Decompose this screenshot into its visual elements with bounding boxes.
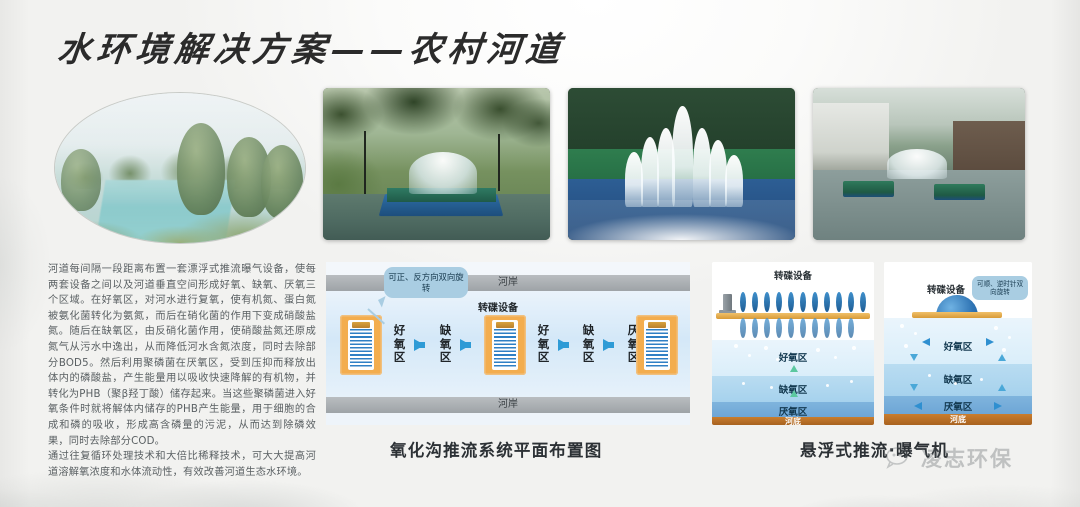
xs1-blade [800,292,806,312]
xs1-title: 转碟设备 [712,268,874,282]
body-copy: 河道每间隔一段距离布置一套漂浮式推流曝气设备，使每两套设备之间以及河道垂直空间形… [48,262,316,480]
page-title: 水环境解决方案——农村河道 [55,22,567,71]
section-disc-aerator: 转碟设备 好氧区 缺氧区 厌氧区 河底 [712,262,874,425]
plan-equipment-cap [352,322,370,328]
xs1-bubble [816,348,820,352]
xs1-blade-lower [788,318,794,338]
xs1-blade-lower [812,318,818,338]
plan-flow-arrow [603,339,614,351]
xs1-blade-lower [848,318,854,338]
plan-equipment-2 [484,315,526,375]
xs1-bubble [748,354,751,357]
xs1-up-arrow [790,365,798,372]
xs2-bubble [954,382,957,385]
xs1-blade [812,292,818,312]
plan-zone-anoxic-2: 缺氧区 [581,324,596,365]
xs2-label-riverbed: 河底 [884,414,1032,425]
plan-zone-anoxic-1: 缺氧区 [438,324,453,365]
xs1-blade-lower [836,318,842,338]
xs1-blade-lower [764,318,770,338]
plan-flow-arrow [460,339,471,351]
xs2-bubble [900,324,904,328]
wechat-icon [886,447,914,469]
plan-equipment-rotor [348,320,374,370]
xs1-blade-lower [824,318,830,338]
photo-2-jet [625,152,643,207]
watermark: 凌志环保 [886,443,1013,473]
xs1-up-arrow [790,390,798,397]
xs1-bubble [834,356,837,359]
plan-rotation-callout: 可正、反方向双向旋转 [384,267,468,298]
xs1-blade [776,292,782,312]
photo-floating-aerator-canal [323,88,550,240]
xs1-bubble [850,380,853,383]
xs2-bottom-arrow-left [914,402,922,410]
xs2-down-arrow [910,384,918,391]
photo-3-white-building [813,103,889,173]
xs1-bubble [776,358,779,361]
photo-1-pole [498,134,500,192]
xs2-flow-arrow-right [986,338,994,346]
xs2-bubble [1008,336,1011,339]
plan-zone-aerobic-1: 好氧区 [392,324,407,365]
body-paragraph-2: 通过往复循环处理技术和大倍比稀释技术，可大大提高河道溶解氧浓度和水体流动性，有效… [48,449,316,480]
xs1-motor [723,294,732,311]
xs1-bubble [826,384,829,387]
plan-diagram-caption: 氧化沟推流系统平面布置图 [390,437,602,461]
plan-equipment-rotor [492,320,518,370]
xs2-bubble [928,374,931,377]
xs2-label-anaerobic: 厌氧区 [884,399,1032,413]
photo-2-jet [657,128,675,207]
xs1-rotor-shaft [716,313,870,319]
xs1-label-riverbed: 河底 [712,416,874,425]
xs1-bubble [764,346,768,350]
photo-twin-platform-canal [813,88,1025,240]
xs2-down-arrow [910,354,918,361]
xs1-blade [752,292,758,312]
plan-equipment-cap [496,322,514,328]
xs2-bubble [980,378,983,381]
plan-bank-bottom-label: 河岸 [326,397,690,413]
plan-equipment-3 [636,315,678,375]
photo-3-platform [843,181,894,198]
xs1-blade [860,292,866,312]
xs1-blade-lower [752,318,758,338]
plan-equipment-1 [340,315,382,375]
photo-2-jet [725,155,743,207]
plan-equipment-label: 转碟设备 [478,299,518,314]
xs1-bubble [852,346,856,350]
right-edge-shading [1050,0,1080,507]
photo-1-pole [364,131,366,195]
plan-flow-arrow [414,339,425,351]
xs2-up-arrow [998,384,1006,391]
xs1-bubble [734,344,738,348]
photo-1-content [323,88,550,240]
photo-3-content [813,88,1025,240]
xs2-label-anoxic: 缺氧区 [884,372,1032,386]
left-edge-shading [0,0,30,507]
xs2-bubble [994,326,998,330]
hero-photo-oval [55,93,305,243]
xs2-bubble [904,344,908,348]
xs1-blade-lower [800,318,806,338]
xs1-blade [836,292,842,312]
xs1-label-aerobic: 好氧区 [712,350,874,364]
xs2-bottom-arrow-right [994,402,1002,410]
plan-equipment-cap [648,322,666,328]
plan-bank-top-label: 河岸 [326,275,690,291]
xs1-blade [848,292,854,312]
plan-diagram: 河岸 可正、反方向双向旋转 好氧区 缺氧区 厌氧区 转碟设备 好氧区 缺氧区 厌… [326,262,690,425]
photo-fountain-aeration [568,88,795,240]
xs1-blade-lower [776,318,782,338]
xs2-rotation-callout: 可顺、逆时针双向旋转 [972,276,1028,300]
xs2-flow-arrow-left [922,338,930,346]
photo-2-content [568,88,795,240]
photo-2-center-jet [672,106,692,206]
xs1-bubble [770,386,773,389]
xs2-bubble [914,332,917,335]
photo-2-foam [568,200,795,240]
xs1-blade [788,292,794,312]
slide-root: 水环境解决方案——农村河道 河道每间隔一段距离布置一套漂浮式推流曝气设备，使每两… [0,0,1080,507]
hero-haze-overlay [55,93,305,243]
xs1-blade [740,292,746,312]
xs2-up-arrow [998,354,1006,361]
xs1-bubble [742,382,745,385]
plan-zone-aerobic-2: 好氧区 [536,324,551,365]
photo-1-water-spray [409,152,477,195]
body-paragraph-1: 河道每间隔一段距离布置一套漂浮式推流曝气设备，使每两套设备之间以及河道垂直空间形… [48,262,316,449]
plan-flow-arrow [558,339,569,351]
xs1-blade [824,292,830,312]
xs2-bubble [1002,348,1006,352]
plan-equipment-rotor [644,320,670,370]
xs1-blade-lower [740,318,746,338]
photo-3-platform [934,184,985,201]
section-suspended-impeller: 转碟设备 可顺、逆时针双向旋转 好氧区 缺氧区 厌氧区 河底 [884,262,1032,425]
watermark-text: 凌志环保 [921,443,1013,473]
xs1-blade [764,292,770,312]
photo-3-water-spray [887,149,946,179]
